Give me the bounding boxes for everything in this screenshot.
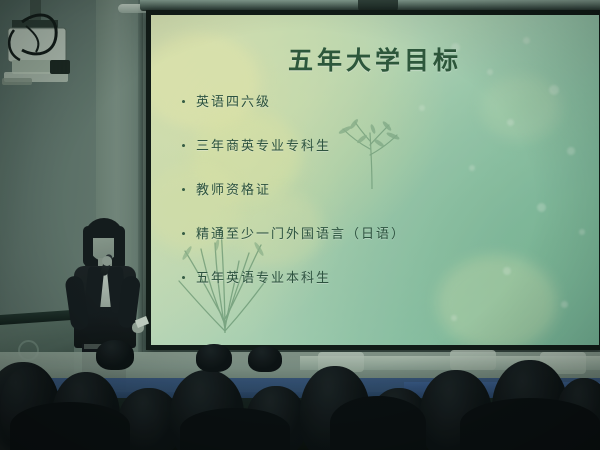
audience-shoulder [330, 396, 426, 450]
audience-head-back [248, 346, 282, 372]
presenter-hair-right [114, 226, 125, 270]
bullet-text: 精通至少一门外国语言（日语） [196, 225, 406, 242]
classroom-scene: 五年大学目标 • 英语四六级 • 三年商英专业专科生 • 教师资格证 • 精通至… [0, 0, 600, 450]
bullet-marker-icon: • [179, 93, 188, 110]
chair-back [450, 350, 496, 370]
bullet-text: 五年英语专业本科生 [196, 269, 331, 286]
audience-shoulder [10, 402, 130, 450]
bullet-text: 教师资格证 [196, 181, 271, 198]
bullet-text: 三年商英专业专科生 [196, 137, 331, 154]
list-item: • 精通至少一门外国语言（日语） [179, 225, 581, 242]
audience-shoulder [180, 408, 290, 450]
bullet-marker-icon: • [179, 137, 188, 154]
slide-title: 五年大学目标 [151, 41, 599, 77]
presenter-hand-left [102, 256, 112, 266]
slide-canvas: 五年大学目标 • 英语四六级 • 三年商英专业专科生 • 教师资格证 • 精通至… [151, 15, 599, 345]
presenter-notes [135, 316, 149, 328]
projector-icon [2, 0, 152, 110]
bullet-text: 英语四六级 [196, 93, 271, 110]
presenter-hair-left [83, 226, 93, 266]
list-item: • 英语四六级 [179, 93, 581, 110]
list-item: • 教师资格证 [179, 181, 581, 198]
audience-head-back [96, 340, 134, 370]
projection-screen: 五年大学目标 • 英语四六级 • 三年商英专业专科生 • 教师资格证 • 精通至… [146, 10, 600, 350]
audience-shoulder [460, 398, 600, 450]
list-item: • 三年商英专业专科生 [179, 137, 581, 154]
bullet-marker-icon: • [179, 269, 188, 286]
audience-head-back [196, 344, 232, 372]
bullet-marker-icon: • [179, 181, 188, 198]
bullet-marker-icon: • [179, 225, 188, 242]
list-item: • 五年英语专业本科生 [179, 269, 581, 286]
bokeh-dot [451, 315, 457, 321]
slide-bullet-list: • 英语四六级 • 三年商英专业专科生 • 教师资格证 • 精通至少一门外国语言… [179, 93, 581, 313]
